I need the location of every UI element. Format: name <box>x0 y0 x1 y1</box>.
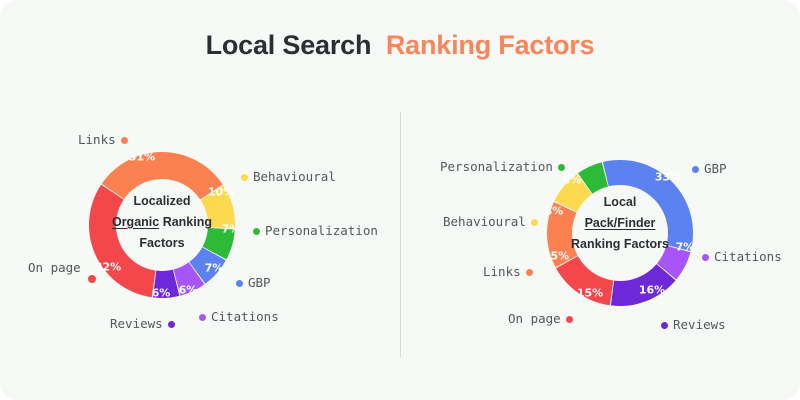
right-label-on-page-text: On page <box>508 312 561 326</box>
reviews-color-dot <box>168 321 175 328</box>
left-label-behavioural: Behavioural <box>241 170 336 184</box>
right-pct-on-page: 15% <box>577 287 603 300</box>
left-center-line-3: Factors <box>97 233 227 254</box>
right-pct-citations: 7% <box>676 241 695 254</box>
left-label-on-page: On page <box>28 261 81 275</box>
left-center-label: Localized Organic Ranking Factors <box>97 191 227 254</box>
left-center-line-2-underlined: Organic <box>112 215 159 229</box>
left-label-on-page-text: On page <box>28 261 81 275</box>
right-label-personalization-text: Personalization <box>440 160 553 174</box>
left-center-line-2: Organic Ranking <box>97 212 227 233</box>
right-center-line-2: Pack/Finder <box>553 213 687 234</box>
right-label-reviews-text: Reviews <box>673 318 726 332</box>
left-label-links-text: Links <box>78 133 116 147</box>
left-label-personalization: Personalization <box>253 224 378 238</box>
left-pct-behavioural: 10% <box>208 186 234 199</box>
gbp-color-dot <box>236 280 243 287</box>
page-title: Local Search Ranking Factors <box>0 28 800 62</box>
gbp-color-dot-right <box>692 166 699 173</box>
right-pct-personalization: 6% <box>563 174 582 187</box>
infographic-card: Local Search Ranking Factors Localized O… <box>0 0 800 400</box>
right-label-citations: Citations <box>702 250 782 264</box>
right-pct-behavioural: 8% <box>545 205 564 218</box>
right-pct-reviews: 16% <box>639 284 665 297</box>
left-label-gbp: GBP <box>236 276 271 290</box>
right-label-reviews: Reviews <box>661 318 726 332</box>
reviews-color-dot-right <box>661 322 668 329</box>
citations-color-dot-right <box>702 254 709 261</box>
citations-color-dot <box>199 314 206 321</box>
left-label-gbp-text: GBP <box>248 276 271 290</box>
left-pct-citations: 6% <box>179 284 198 297</box>
right-label-citations-text: Citations <box>714 250 782 264</box>
left-label-citations-text: Citations <box>211 310 279 324</box>
right-label-gbp-text: GBP <box>704 162 727 176</box>
left-label-behavioural-text: Behavioural <box>253 170 336 184</box>
left-label-reviews: Reviews <box>110 317 175 331</box>
right-label-links-text: Links <box>483 265 521 279</box>
right-label-gbp: GBP <box>692 162 727 176</box>
right-label-links: Links <box>483 265 533 279</box>
right-label-personalization: Personalization <box>440 160 565 174</box>
left-pct-gbp: 7% <box>205 262 224 275</box>
links-color-dot-right <box>526 269 533 276</box>
on-page-color-dot-right <box>566 316 573 323</box>
right-label-on-page: On page <box>508 312 573 326</box>
personalization-color-dot <box>253 228 260 235</box>
title-part-primary: Local Search <box>206 30 372 60</box>
right-label-behavioural-text: Behavioural <box>443 215 526 229</box>
right-pct-links: 15% <box>543 250 569 263</box>
right-center-label: Local Pack/Finder Ranking Factors <box>553 192 687 255</box>
right-label-behavioural: Behavioural <box>443 215 538 229</box>
personalization-color-dot-right <box>558 164 565 171</box>
left-pct-on-page: 32% <box>95 261 121 274</box>
behavioural-color-dot-right <box>531 219 538 226</box>
right-center-line-1: Local <box>553 192 687 213</box>
left-pct-personalization: 7% <box>222 223 241 236</box>
right-pct-gbp: 33% <box>655 171 681 184</box>
donut-segment-personalization[interactable] <box>578 162 608 193</box>
behavioural-color-dot <box>241 174 248 181</box>
vertical-divider <box>400 112 401 358</box>
left-pct-reviews: 6% <box>152 287 171 300</box>
title-part-accent: Ranking Factors <box>386 30 595 60</box>
left-label-citations: Citations <box>199 310 279 324</box>
links-color-dot <box>121 137 128 144</box>
on-page-color-dot <box>88 275 96 283</box>
left-center-line-2-rest: Ranking <box>159 215 212 229</box>
right-center-line-2-underlined: Pack/Finder <box>585 216 656 230</box>
left-label-personalization-text: Personalization <box>265 224 378 238</box>
left-label-reviews-text: Reviews <box>110 317 163 331</box>
left-label-links: Links <box>78 133 128 147</box>
left-pct-links: 31% <box>129 151 155 164</box>
right-center-line-3: Ranking Factors <box>553 234 687 255</box>
